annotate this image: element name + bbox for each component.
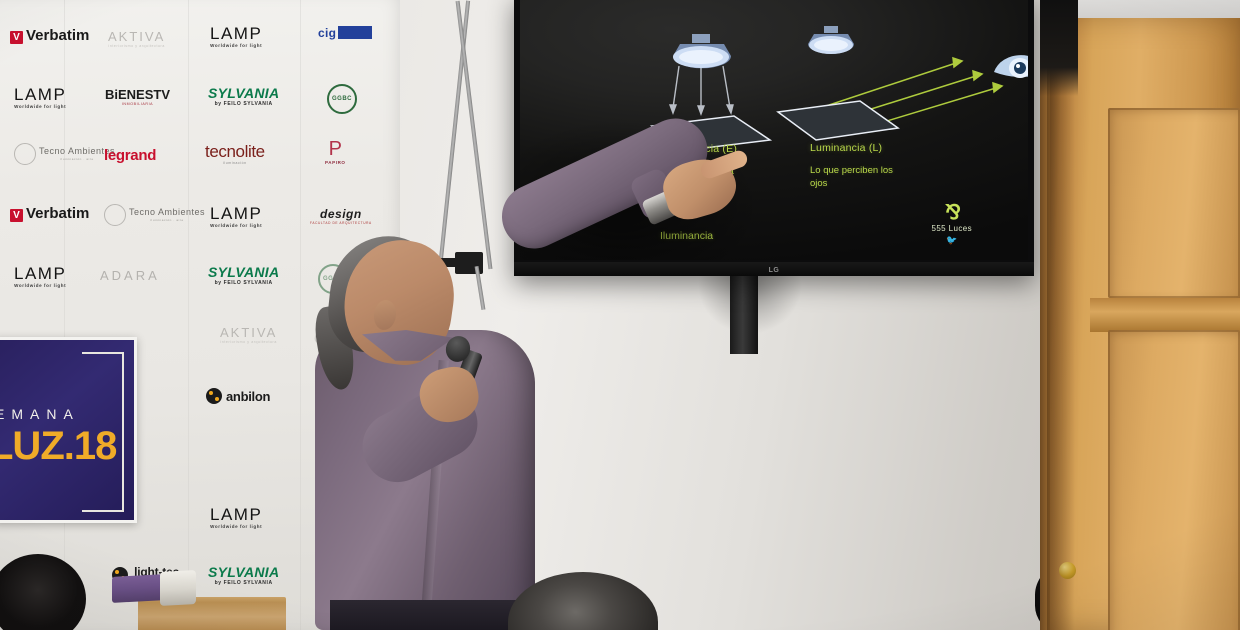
sponsor-logo-tagline: PAPIRO	[325, 161, 346, 166]
sponsor-logo-ggbc: GGBC	[327, 84, 357, 114]
sponsor-logo-label: SYLVANIA	[208, 565, 279, 579]
tecnoambientes-badge-icon	[104, 204, 126, 226]
sponsor-logo-papiro: P PAPIRO	[325, 139, 346, 166]
sponsor-logo-label: AKTIVA	[108, 30, 165, 43]
ggbc-badge-icon: GGBC	[327, 84, 357, 114]
luminancia-diagram	[768, 12, 1028, 157]
sponsor-logo-adara: ADARA	[100, 269, 160, 282]
sponsor-logo-legrand: legrand	[104, 148, 156, 163]
sponsor-logo-verbatim: VVerbatim	[10, 28, 89, 44]
sponsor-logo-tagline: by FEILO SYLVANIA	[215, 281, 273, 286]
poster-line-semana: EMANA	[0, 406, 80, 422]
banner-seam	[188, 0, 189, 630]
door-top-shadow	[1040, 0, 1078, 96]
lg-brand-logo: LG	[769, 267, 780, 274]
sponsor-logo-label: design	[320, 208, 362, 220]
banner-seam	[300, 0, 301, 630]
sponsor-logo-lamp: LAMP Worldwide for light	[210, 25, 262, 49]
projector-lens	[160, 570, 196, 606]
luminaire-icon	[808, 26, 854, 54]
sponsor-logo-lamp: LAMP Worldwide for light	[14, 86, 66, 110]
sponsor-logo-tecnoambientes: Tecno Ambientes iluminación · aire	[104, 204, 205, 226]
slide-logo-555-luces: ⅋ 555 Luces 🐦	[931, 203, 972, 246]
sponsor-logo-tagline: iluminación	[223, 162, 247, 165]
sponsor-logo-tagline: Worldwide for light	[210, 525, 262, 530]
sponsor-logo-tagline: interiorismo y arquitectura	[220, 341, 276, 345]
sponsor-logo-label: GGBC	[332, 96, 352, 102]
sponsor-logo-label: LAMP	[14, 86, 66, 103]
sponsor-logo-tagline: INMOBILIARIA	[122, 103, 153, 107]
tecnoambientes-badge-icon	[14, 143, 36, 165]
sponsor-logo-lamp: LAMP Worldwide for light	[14, 265, 66, 289]
sponsor-logo-label: anbilon	[226, 390, 270, 403]
sponsor-logo-bienestv: BiENESTV INMOBILIARIA	[105, 88, 170, 107]
sponsor-logo-label: LAMP	[14, 265, 66, 282]
sponsor-logo-anbilon: anbilon	[206, 388, 270, 404]
verbatim-mark-icon: V	[10, 31, 23, 44]
luces-glyph-icon: ⅋	[931, 203, 972, 223]
verbatim-mark-icon: V	[10, 209, 23, 222]
sponsor-logo-cig: cig	[318, 26, 372, 39]
slide-heading-luminancia: Luminancia (L)	[810, 142, 882, 154]
door-panel-top	[1108, 108, 1240, 298]
sponsor-logo-label: LAMP	[210, 205, 262, 222]
sponsor-logo-tecnoambientes: Tecno Ambientes iluminación · aire	[14, 143, 115, 165]
sponsor-logo-tagline: iluminación · aire	[129, 219, 205, 222]
semana-luz-poster: EMANA LUZ.18	[0, 337, 137, 523]
sponsor-logo-label: BiENESTV	[105, 88, 170, 101]
sponsor-logo-aktiva: AKTIVA interiorismo y arquitectura	[108, 30, 165, 49]
sponsor-logo-sylvania: SYLVANIA by FEILO SYLVANIA	[208, 265, 279, 286]
sponsor-logo-label: ADARA	[100, 269, 160, 282]
tv-mount-bracket	[730, 276, 758, 354]
sponsor-logo-tecnolite: tecnolite iluminación	[205, 143, 265, 165]
door-rail	[1090, 298, 1240, 332]
sponsor-logo-tagline: interiorismo y arquitectura	[108, 45, 164, 49]
sponsor-logo-label: AKTIVA	[220, 326, 277, 339]
sponsor-logo-design: design FACULTAD DE ARQUITECTURA	[310, 208, 372, 225]
lg-display[interactable]: Iluminancia (E) Lo que llega a la superf…	[514, 0, 1034, 276]
sponsor-logo-label: tecnolite	[205, 143, 265, 160]
sponsor-logo-sylvania: SYLVANIA by FEILO SYLVANIA	[208, 565, 279, 586]
sponsor-logo-label: Verbatim	[26, 27, 89, 44]
sponsor-logo-lamp: LAMP Worldwide for light	[210, 205, 262, 229]
sponsor-logo-tagline: Worldwide for light	[210, 224, 262, 229]
tv-bottom-bezel: LG	[514, 262, 1034, 276]
slide-body-luminancia: Lo que perciben los ojos	[810, 165, 905, 191]
luminaire-icon	[673, 34, 731, 68]
sponsor-logo-tagline: Worldwide for light	[14, 284, 66, 289]
door-panel-bottom	[1108, 330, 1240, 630]
sponsor-logo-label: SYLVANIA	[208, 86, 279, 100]
poster-line-luz: LUZ.18	[0, 424, 116, 469]
slide-logo-label: 555 Luces	[931, 224, 972, 233]
sponsor-logo-label: Tecno Ambientes	[129, 208, 205, 218]
sponsor-logo-label: LAMP	[210, 25, 262, 42]
sponsor-logo-tagline: FACULTAD DE ARQUITECTURA	[310, 222, 372, 225]
sponsor-logo-label: legrand	[104, 148, 156, 163]
screenshot-root: VVerbatim AKTIVA interiorismo y arquitec…	[0, 0, 1240, 630]
sponsor-logo-label: LAMP	[210, 506, 262, 523]
twitter-icon: 🐦	[931, 235, 972, 246]
sponsor-logo-tagline: by FEILO SYLVANIA	[215, 102, 273, 107]
sponsor-logo-label: SYLVANIA	[208, 265, 279, 279]
sponsor-logo-aktiva: AKTIVA interiorismo y arquitectura	[220, 326, 277, 345]
sponsor-logo-label: Verbatim	[26, 205, 89, 222]
sponsor-logo-tagline: by FEILO SYLVANIA	[215, 581, 273, 586]
sponsor-logo-lamp: LAMP Worldwide for light	[210, 506, 262, 530]
cig-block-icon	[338, 26, 372, 39]
presenter-trousers	[330, 600, 520, 630]
sponsor-logo-sylvania: SYLVANIA by FEILO SYLVANIA	[208, 86, 279, 107]
anbilon-mark-icon	[206, 388, 222, 404]
sponsor-logo-verbatim: VVerbatim	[10, 206, 89, 222]
eye-icon	[994, 55, 1028, 78]
sponsor-logo-label: cig	[318, 27, 336, 39]
sponsor-logo-tagline: Worldwide for light	[210, 44, 262, 49]
papiro-glyph-icon: P	[329, 139, 342, 159]
light-ray-arrows	[670, 66, 733, 114]
sponsor-logo-tagline: Worldwide for light	[14, 105, 66, 110]
slide-footer-text: Iluminancia	[660, 230, 713, 242]
door-shadow	[1047, 18, 1075, 630]
